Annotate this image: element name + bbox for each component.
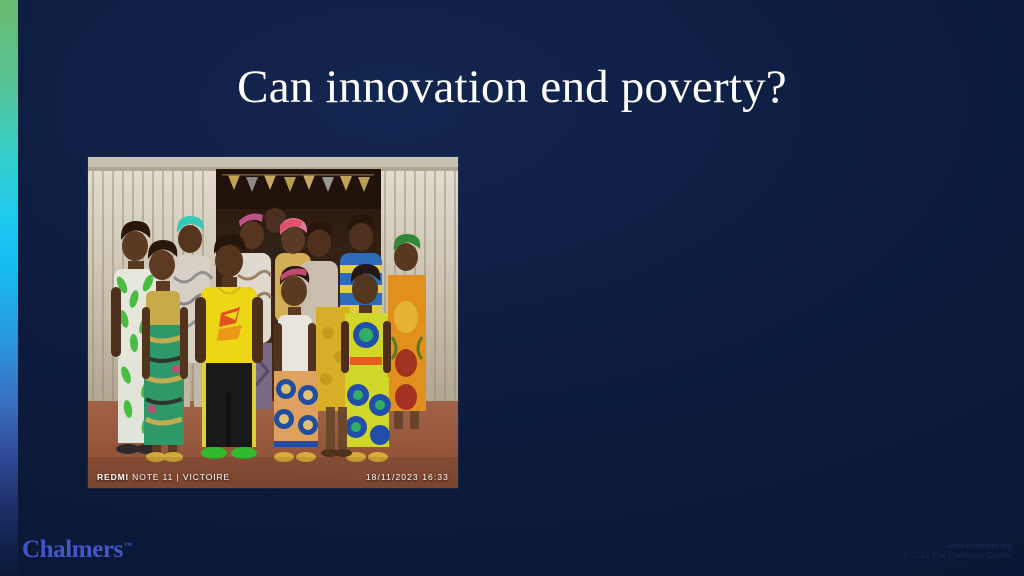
presentation-slide: Can innovation end poverty?	[0, 0, 1024, 576]
chalmers-logo: Chalmers™	[22, 537, 132, 562]
footer-website-url: www.chalmers.org	[902, 541, 1012, 551]
trademark-icon: ™	[124, 541, 132, 550]
group-photo: REDMI NOTE 11 | VICTOIRE 18/11/2023 16:3…	[88, 157, 458, 488]
slide-title: Can innovation end poverty?	[60, 60, 964, 114]
footer-copyright: © 2024 The Chalmers Center	[902, 551, 1012, 562]
chalmers-logo-text: Chalmers	[22, 536, 123, 563]
footer-meta: www.chalmers.org © 2024 The Chalmers Cen…	[902, 541, 1012, 562]
left-gradient-accent-bar	[0, 0, 18, 576]
photo-timestamp-stamp: 18/11/2023 16:33	[366, 472, 449, 482]
photo-camera-brand: REDMI	[97, 472, 129, 482]
photo-camera-stamp: REDMI NOTE 11 | VICTOIRE	[97, 472, 230, 482]
group-photo-illustration	[88, 157, 458, 488]
photo-camera-model: NOTE 11 | VICTOIRE	[129, 472, 230, 482]
